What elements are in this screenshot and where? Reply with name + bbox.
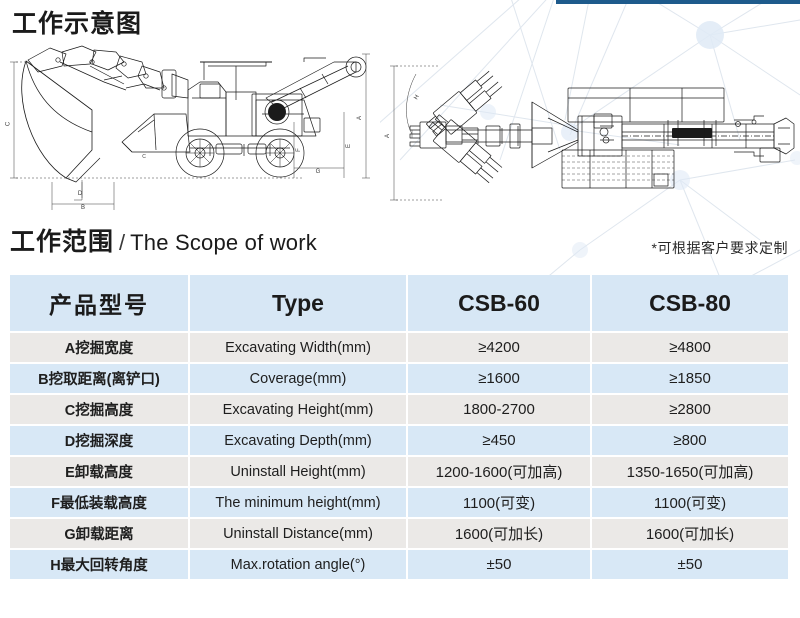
table-header-csb60: CSB-60	[408, 275, 590, 331]
svg-text:E: E	[346, 144, 352, 148]
section-heading-cn: 工作范围	[10, 228, 114, 256]
row-label-en: The minimum height(mm)	[190, 488, 406, 517]
table-header-model: 产品型号	[10, 275, 188, 331]
row-value-csb60: ≥450	[408, 426, 590, 455]
svg-text:A: A	[357, 116, 363, 120]
svg-text:F: F	[296, 148, 302, 152]
row-label: F最低装载高度	[10, 488, 188, 517]
row-value-csb60: 1600(可加长)	[408, 519, 590, 548]
row-label-en: Max.rotation angle(°)	[190, 550, 406, 579]
row-value-csb80: ≥2800	[592, 395, 788, 424]
row-value-csb60: ±50	[408, 550, 590, 579]
row-value-csb80: ≥800	[592, 426, 788, 455]
excavator-side-view-drawing: C D B G F E A C	[4, 40, 376, 210]
table-header-row: 产品型号 Type CSB-60 CSB-80	[10, 275, 788, 331]
svg-text:B: B	[81, 205, 85, 210]
row-value-csb60: 1200-1600(可加高)	[408, 457, 590, 486]
row-label: D挖掘深度	[10, 426, 188, 455]
diagram-area: C D B G F E A C	[0, 40, 800, 210]
svg-text:G: G	[316, 169, 321, 175]
row-value-csb60: 1100(可变)	[408, 488, 590, 517]
row-label: H最大回转角度	[10, 550, 188, 579]
row-value-csb80: ≥4800	[592, 333, 788, 362]
table-row: H最大回转角度 Max.rotation angle(°) ±50 ±50	[10, 550, 788, 579]
row-value-csb80: ≥1850	[592, 364, 788, 393]
section-heading-separator: /	[119, 230, 125, 255]
row-label: C挖掘高度	[10, 395, 188, 424]
table-row: E卸载高度 Uninstall Height(mm) 1200-1600(可加高…	[10, 457, 788, 486]
row-value-csb80: 1350-1650(可加高)	[592, 457, 788, 486]
svg-text:C: C	[142, 154, 146, 160]
row-label-en: Uninstall Height(mm)	[190, 457, 406, 486]
customization-note: *可根据客户要求定制	[652, 238, 788, 258]
table-header-type: Type	[190, 275, 406, 331]
table-row: F最低装载高度 The minimum height(mm) 1100(可变) …	[10, 488, 788, 517]
svg-text:H: H	[413, 94, 420, 101]
row-label: A挖掘宽度	[10, 333, 188, 362]
top-accent-bar	[556, 0, 800, 4]
row-label-en: Uninstall Distance(mm)	[190, 519, 406, 548]
section-heading-en: The Scope of work	[130, 230, 317, 255]
table-row: C挖掘高度 Excavating Height(mm) 1800-2700 ≥2…	[10, 395, 788, 424]
row-value-csb80: ±50	[592, 550, 788, 579]
svg-text:C: C	[6, 121, 12, 126]
row-label-en: Coverage(mm)	[190, 364, 406, 393]
row-label: G卸载距离	[10, 519, 188, 548]
row-label-en: Excavating Depth(mm)	[190, 426, 406, 455]
table-row: D挖掘深度 Excavating Depth(mm) ≥450 ≥800	[10, 426, 788, 455]
row-label: B挖取距离(离铲口)	[10, 364, 188, 393]
svg-text:A: A	[385, 134, 391, 138]
row-value-csb80: 1600(可加长)	[592, 519, 788, 548]
table-header-csb80: CSB-80	[592, 275, 788, 331]
row-label-en: Excavating Height(mm)	[190, 395, 406, 424]
table-row: A挖掘宽度 Excavating Width(mm) ≥4200 ≥4800	[10, 333, 788, 362]
row-label-en: Excavating Width(mm)	[190, 333, 406, 362]
row-value-csb60: ≥4200	[408, 333, 590, 362]
svg-text:D: D	[78, 191, 83, 197]
section-heading: 工作范围/The Scope of work	[10, 222, 317, 258]
row-label: E卸载高度	[10, 457, 188, 486]
row-value-csb80: 1100(可变)	[592, 488, 788, 517]
page-title: 工作示意图	[12, 4, 142, 40]
row-value-csb60: ≥1600	[408, 364, 590, 393]
row-value-csb60: 1800-2700	[408, 395, 590, 424]
table-row: B挖取距离(离铲口) Coverage(mm) ≥1600 ≥1850	[10, 364, 788, 393]
table-row: G卸载距离 Uninstall Distance(mm) 1600(可加长) 1…	[10, 519, 788, 548]
specifications-table: 产品型号 Type CSB-60 CSB-80 A挖掘宽度 Excavating…	[8, 273, 790, 581]
excavator-top-view-drawing: A H	[382, 40, 796, 210]
